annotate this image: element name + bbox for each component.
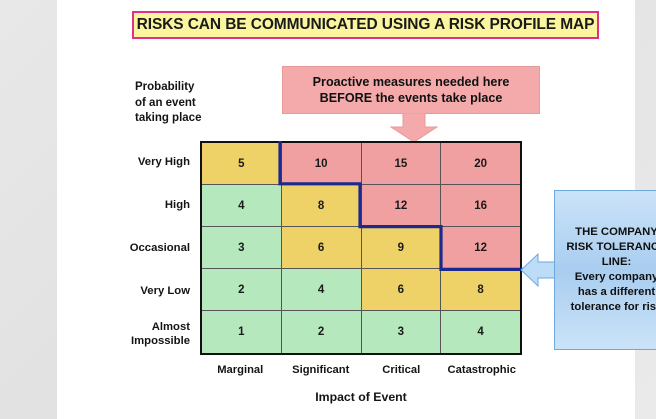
x-axis-labels: Marginal Significant Critical Catastroph… xyxy=(200,364,522,376)
matrix-cell[interactable]: 4 xyxy=(202,185,282,227)
matrix-cell[interactable]: 20 xyxy=(441,143,520,185)
proactive-callout-line-1: Proactive measures needed here xyxy=(313,74,510,90)
matrix-cell[interactable]: 9 xyxy=(362,227,442,269)
matrix-cell[interactable]: 3 xyxy=(202,227,282,269)
matrix-cell[interactable]: 1 xyxy=(202,311,282,353)
x-axis-label-marginal: Marginal xyxy=(200,364,281,376)
down-arrow-icon xyxy=(390,113,438,143)
matrix-cell[interactable]: 4 xyxy=(282,269,362,311)
matrix-cell[interactable]: 3 xyxy=(362,311,442,353)
matrix-cell[interactable]: 6 xyxy=(362,269,442,311)
matrix-cell[interactable]: 2 xyxy=(282,311,362,353)
y-axis-title-line-2: of an event xyxy=(135,96,255,112)
matrix-cell[interactable]: 12 xyxy=(362,185,442,227)
y-axis-title: Probability of an event taking place xyxy=(135,80,255,127)
matrix-row-high: 4 8 12 16 xyxy=(202,185,520,227)
y-axis-label-high-line-1: High xyxy=(165,198,190,212)
y-axis-label-high: High xyxy=(95,184,190,227)
risk-tolerance-callout: THE COMPANY RISK TOLERANCE LINE: Every c… xyxy=(554,190,656,350)
slide-canvas: RISKS CAN BE COMMUNICATED USING A RISK P… xyxy=(57,0,635,419)
matrix-cell[interactable]: 12 xyxy=(441,227,520,269)
matrix-cell[interactable]: 10 xyxy=(282,143,362,185)
y-axis-label-very-high: Very High xyxy=(95,141,190,184)
risk-tolerance-callout-line-6: tolerance for risk xyxy=(571,300,656,315)
x-axis-label-significant: Significant xyxy=(281,364,362,376)
risk-tolerance-callout-line-4: Every company xyxy=(575,270,656,285)
matrix-cell[interactable]: 15 xyxy=(362,143,442,185)
proactive-callout-line-2: BEFORE the events take place xyxy=(320,90,503,106)
y-axis-title-line-3: taking place xyxy=(135,111,255,127)
proactive-measures-callout: Proactive measures needed here BEFORE th… xyxy=(282,66,540,114)
x-axis-label-catastrophic: Catastrophic xyxy=(442,364,523,376)
matrix-row-very-low: 2 4 6 8 xyxy=(202,269,520,311)
matrix-row-almost-impossible: 1 2 3 4 xyxy=(202,311,520,353)
risk-tolerance-callout-line-2: RISK TOLERANCE xyxy=(566,240,656,255)
y-axis-label-very-low-line-1: Very Low xyxy=(140,284,190,298)
y-axis-labels: Very High High Occasional Very Low Almos… xyxy=(95,141,195,355)
y-axis-label-very-low: Very Low xyxy=(95,269,190,312)
matrix-row-occasional: 3 6 9 12 xyxy=(202,227,520,269)
y-axis-label-almost-impossible-line-1: Almost xyxy=(131,320,190,334)
matrix-cell[interactable]: 2 xyxy=(202,269,282,311)
page-title-text: RISKS CAN BE COMMUNICATED USING A RISK P… xyxy=(137,16,595,34)
matrix-cell[interactable]: 6 xyxy=(282,227,362,269)
y-axis-label-occasional-line-1: Occasional xyxy=(130,241,190,255)
matrix-cell[interactable]: 8 xyxy=(282,185,362,227)
risk-matrix: 5 10 15 20 4 8 12 16 3 6 9 12 2 4 6 8 1 … xyxy=(200,141,522,355)
page-title: RISKS CAN BE COMMUNICATED USING A RISK P… xyxy=(132,11,599,39)
matrix-cell[interactable]: 8 xyxy=(441,269,520,311)
risk-tolerance-callout-line-1: THE COMPANY xyxy=(575,225,656,240)
matrix-cell[interactable]: 5 xyxy=(202,143,282,185)
risk-tolerance-callout-line-3: LINE: xyxy=(602,255,632,270)
risk-tolerance-callout-line-5: has a different xyxy=(578,285,655,300)
y-axis-label-very-high-line-1: Very High xyxy=(138,155,190,169)
matrix-row-very-high: 5 10 15 20 xyxy=(202,143,520,185)
x-axis-title: Impact of Event xyxy=(200,390,522,404)
y-axis-label-almost-impossible: Almost Impossible xyxy=(95,312,190,355)
y-axis-label-almost-impossible-line-2: Impossible xyxy=(131,334,190,348)
y-axis-label-occasional: Occasional xyxy=(95,227,190,270)
y-axis-title-line-1: Probability xyxy=(135,80,255,96)
matrix-cell[interactable]: 4 xyxy=(441,311,520,353)
matrix-cell[interactable]: 16 xyxy=(441,185,520,227)
x-axis-label-critical: Critical xyxy=(361,364,442,376)
